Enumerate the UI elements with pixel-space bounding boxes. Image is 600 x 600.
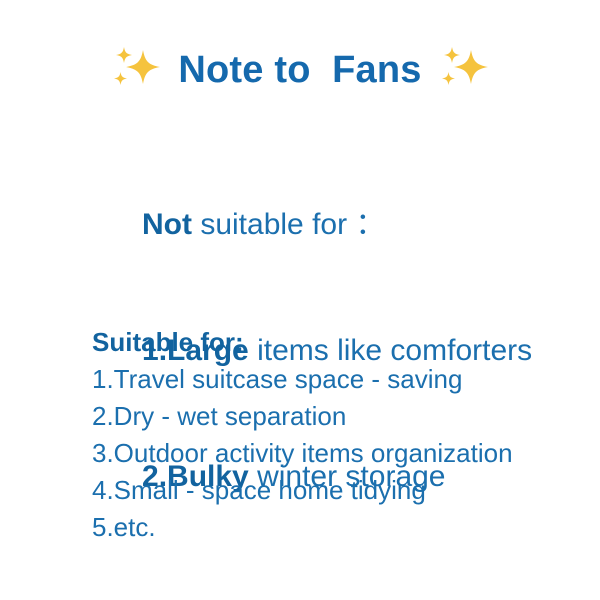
sparkles-icon bbox=[110, 44, 162, 96]
header-title-row: Note to Fans bbox=[0, 44, 600, 96]
page-title: Note to Fans bbox=[178, 51, 421, 89]
suitable-item: 1.Travel suitcase space - saving bbox=[92, 361, 592, 398]
suitable-section: Suitable for: 1.Travel suitcase space - … bbox=[92, 324, 592, 546]
not-suitable-heading: Not suitable for ： bbox=[92, 162, 592, 288]
suitable-item: 2.Dry - wet separation bbox=[92, 398, 592, 435]
suitable-item: 3.Outdoor activity items organization bbox=[92, 435, 592, 472]
suitable-item: 5.etc. bbox=[92, 509, 592, 546]
note-to-fans-card: Note to Fans Not suitable for ： 1.Large … bbox=[0, 0, 600, 600]
sparkles-icon bbox=[438, 44, 490, 96]
not-suitable-heading-rest: suitable for ： bbox=[192, 208, 385, 241]
suitable-heading: Suitable for: bbox=[92, 324, 592, 361]
not-suitable-heading-emphasis: Not bbox=[142, 208, 192, 241]
suitable-item: 4.Small - space home tidying bbox=[92, 472, 592, 509]
